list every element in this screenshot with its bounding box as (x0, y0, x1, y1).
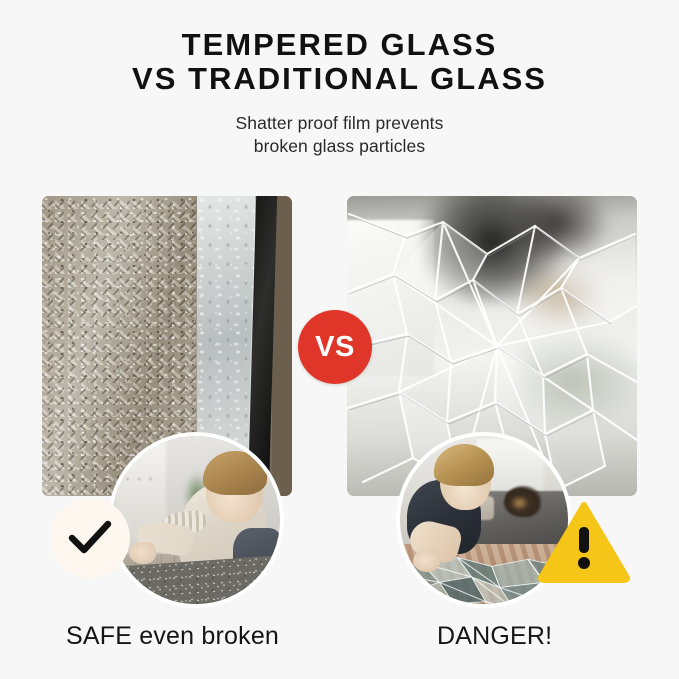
safe-child-hair (203, 451, 267, 495)
subtitle: Shatter proof film prevents broken glass… (0, 112, 679, 158)
subtitle-line-2: broken glass particles (0, 135, 679, 158)
page-title-line-1: TEMPERED GLASS (0, 28, 679, 62)
header: TEMPERED GLASS VS TRADITIONAL GLASS Shat… (0, 28, 679, 158)
safe-caption: SAFE even broken (66, 622, 279, 651)
safe-child-inset-photo (108, 432, 284, 608)
danger-warning-badge (538, 500, 630, 584)
safe-child-hand (129, 542, 156, 564)
safe-wall-hooks (124, 473, 154, 485)
subtitle-line-1: Shatter proof film prevents (0, 112, 679, 135)
check-icon (67, 518, 113, 558)
warning-triangle-icon (538, 500, 630, 584)
safe-check-badge (50, 498, 130, 578)
danger-child-hand (413, 550, 440, 572)
safe-child-scene (112, 436, 280, 604)
page-title-line-2: VS TRADITIONAL GLASS (0, 62, 679, 96)
vs-badge-label: VS (315, 333, 355, 362)
danger-child-hair (434, 444, 494, 486)
vs-badge: VS (298, 310, 372, 384)
danger-caption: DANGER! (437, 622, 552, 651)
danger-dog-marking (511, 496, 528, 509)
